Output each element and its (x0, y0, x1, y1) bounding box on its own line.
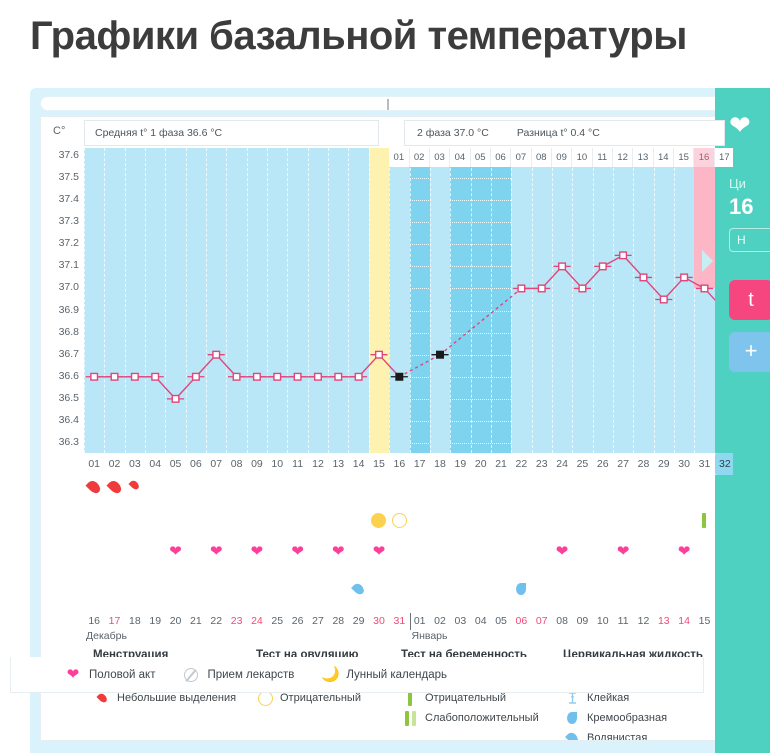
phase2-day-10: 10 (572, 148, 592, 167)
cycle-day-15[interactable]: 15 (369, 453, 389, 475)
calendar-day-Декабрь-31[interactable]: 31 (389, 613, 409, 630)
calendar-day-Январь-14[interactable]: 14 (674, 613, 694, 630)
calendar-day-Январь-06[interactable]: 06 (511, 613, 531, 630)
intercourse-marker-15[interactable]: ❤ (369, 543, 389, 577)
calendar-day-Декабрь-20[interactable]: 20 (165, 613, 185, 630)
cervical-fluid-marker-14[interactable] (348, 577, 368, 611)
menstruation-marker-01[interactable] (84, 475, 104, 509)
circle-filled-yellow-icon (371, 513, 386, 528)
data-point-marker[interactable] (701, 285, 708, 292)
cycle-day-11[interactable]: 11 (287, 453, 307, 475)
drop-red-small-icon (93, 693, 111, 703)
cervical-fluid-marker-row[interactable] (84, 577, 733, 611)
cycle-day-26[interactable]: 26 (593, 453, 613, 475)
pill-icon (181, 668, 201, 682)
cycle-day-05[interactable]: 05 (165, 453, 185, 475)
pregnancy-test-marker-31[interactable] (694, 509, 714, 543)
legend-bottom-bar: ❤Половой актПрием лекарств🌙Лунный календ… (10, 657, 704, 693)
intercourse-marker-11[interactable]: ❤ (287, 543, 307, 577)
calendar-day-Декабрь-18[interactable]: 18 (125, 613, 145, 630)
calendar-day-Январь-15[interactable]: 15 (694, 613, 714, 630)
phase2-day-03: 03 (430, 148, 450, 167)
month-name-Январь: Январь (412, 630, 448, 642)
heart-pink-icon: ❤ (556, 543, 569, 560)
phase2-day-04: 04 (450, 148, 470, 167)
cervical-fluid-marker-22[interactable] (511, 577, 531, 611)
y-tick-37-1: 37.1 (59, 259, 79, 271)
phase2-day-09: 09 (552, 148, 572, 167)
legend-item-label: Водянистая (587, 732, 647, 741)
legend-item-label: Слабоположительный (425, 712, 539, 724)
cycle-day-30[interactable]: 30 (674, 453, 694, 475)
legend-item: Водянистая (563, 728, 703, 741)
calendar-day-Январь-01[interactable]: 01 (410, 613, 430, 630)
bbt-chart-card: C° 37.637.537.437.337.237.137.036.936.83… (30, 88, 770, 753)
series-segment (440, 288, 521, 354)
cycle-day-axis[interactable]: 0102030405060708091011121314151617181920… (84, 453, 733, 475)
data-point-marker[interactable] (559, 263, 566, 270)
y-tick-37-3: 37.3 (59, 215, 79, 227)
phase2-day-08: 08 (532, 148, 552, 167)
phase2-diff: Разница t° 0.4 °C (517, 127, 600, 139)
data-point-marker[interactable] (538, 285, 545, 292)
legend-item-label: Кремообразная (587, 712, 667, 724)
calendar-day-Декабрь-22[interactable]: 22 (206, 613, 226, 630)
menstruation-marker-row[interactable] (84, 475, 733, 509)
phase2-summary: 2 фаза 37.0 °CРазница t° 0.4 °C (404, 120, 725, 146)
ovulation-test-marker-15[interactable] (369, 509, 389, 543)
creamy-icon (563, 712, 581, 724)
test-marker-row[interactable] (84, 509, 733, 543)
heart-pink-icon: ❤ (210, 543, 223, 560)
two-green-bars-faded-icon (401, 711, 419, 726)
heart-pink-icon: ❤ (291, 543, 304, 560)
bottom-legend-item: Прием лекарств (181, 668, 294, 682)
phase2-day-15: 15 (674, 148, 694, 167)
data-point-marker[interactable] (294, 373, 301, 380)
y-tick-37-4: 37.4 (59, 193, 79, 205)
cycle-day-01[interactable]: 01 (84, 453, 104, 475)
drop-red-icon (106, 479, 123, 496)
cycle-day-16[interactable]: 16 (389, 453, 409, 475)
cycle-day-24[interactable]: 24 (552, 453, 572, 475)
add-record-button[interactable]: + (729, 332, 770, 372)
cycle-day-06[interactable]: 06 (186, 453, 206, 475)
calendar-day-Декабрь-21[interactable]: 21 (186, 613, 206, 630)
menstruation-marker-03[interactable] (125, 475, 145, 509)
phase2-day-17: 17 (715, 148, 733, 167)
data-point-marker[interactable] (579, 285, 586, 292)
phase2-day-13: 13 (633, 148, 653, 167)
y-tick-36-7: 36.7 (59, 348, 79, 360)
calendar-day-Январь-05[interactable]: 05 (491, 613, 511, 630)
data-point-marker[interactable] (91, 373, 98, 380)
y-tick-36-8: 36.8 (59, 326, 79, 338)
calendar-date-axis[interactable]: Декабрь16171819202122232425262728293031Я… (84, 613, 733, 647)
heart-pink-icon: ❤ (251, 543, 264, 560)
y-tick-37-2: 37.2 (59, 237, 79, 249)
cycle-day-09[interactable]: 09 (247, 453, 267, 475)
phase2-day-header: 0102030405060708091011121314151617 (389, 148, 733, 167)
y-tick-36-6: 36.6 (59, 370, 79, 382)
phase-summary-bar: Средняя t° 1 фаза 36.6 °C 2 фаза 37.0 °C… (84, 120, 733, 146)
phase2-day-14: 14 (654, 148, 674, 167)
watery-icon (563, 732, 581, 741)
calendar-day-Декабрь-23[interactable]: 23 (226, 613, 246, 630)
drop-red-icon (129, 479, 141, 491)
cycle-label: Ци (729, 176, 746, 191)
bottom-legend-item: 🌙Лунный календарь (320, 667, 447, 682)
data-point-marker[interactable] (152, 373, 159, 380)
cycle-day-27[interactable]: 27 (613, 453, 633, 475)
menstruation-marker-02[interactable] (104, 475, 124, 509)
circle-outline-yellow-icon (392, 513, 407, 528)
bottom-legend-item: ❤Половой акт (63, 667, 155, 682)
one-green-bar-icon (702, 513, 706, 528)
calendar-day-Январь-03[interactable]: 03 (450, 613, 470, 630)
data-point-marker[interactable] (681, 274, 688, 281)
cycle-day-25[interactable]: 25 (572, 453, 592, 475)
heart-pink-icon: ❤ (678, 543, 691, 560)
y-tick-36-9: 36.9 (59, 304, 79, 316)
calendar-day-Декабрь-19[interactable]: 19 (145, 613, 165, 630)
ovulation-test-marker-16[interactable] (389, 509, 409, 543)
chart-sheet: C° 37.637.537.437.337.237.137.036.936.83… (40, 116, 734, 741)
y-tick-36-3: 36.3 (59, 436, 79, 448)
intercourse-marker-24[interactable]: ❤ (552, 543, 572, 577)
cycle-day-17[interactable]: 17 (410, 453, 430, 475)
cycle-day-29[interactable]: 29 (654, 453, 674, 475)
calendar-day-Январь-13[interactable]: 13 (654, 613, 674, 630)
y-axis-unit: C° (53, 125, 65, 137)
phase2-day-05: 05 (471, 148, 491, 167)
cycle-day-20[interactable]: 20 (471, 453, 491, 475)
data-point-marker[interactable] (599, 263, 606, 270)
cycle-day-28[interactable]: 28 (633, 453, 653, 475)
calendar-day-Декабрь-28[interactable]: 28 (328, 613, 348, 630)
bottom-legend-label: Лунный календарь (346, 669, 447, 681)
sticky-icon (563, 691, 581, 705)
data-point-marker[interactable] (233, 373, 240, 380)
data-point-marker[interactable] (315, 373, 322, 380)
heart-pink-icon: ❤ (373, 543, 386, 560)
data-point-marker[interactable] (111, 373, 118, 380)
calendar-day-Декабрь-27[interactable]: 27 (308, 613, 328, 630)
y-tick-36-4: 36.4 (59, 414, 79, 426)
intercourse-marker-row[interactable]: ❤❤❤❤❤❤❤❤❤ (84, 543, 733, 577)
data-point-marker[interactable] (132, 373, 139, 380)
legend-item: Кремообразная (563, 708, 703, 728)
data-point-marker[interactable] (396, 373, 403, 380)
calendar-day-Январь-11[interactable]: 11 (613, 613, 633, 630)
bottom-legend-label: Половой акт (89, 669, 155, 681)
phase2-day-07: 07 (511, 148, 531, 167)
cycle-day-07[interactable]: 07 (206, 453, 226, 475)
calendar-day-Декабрь-24[interactable]: 24 (247, 613, 267, 630)
intercourse-marker-05[interactable]: ❤ (165, 543, 185, 577)
y-tick-37-5: 37.5 (59, 171, 79, 183)
y-tick-37-6: 37.6 (59, 149, 79, 161)
month-name-Декабрь: Декабрь (86, 630, 127, 642)
scrollbar-handle[interactable] (387, 99, 389, 110)
cycle-day-19[interactable]: 19 (450, 453, 470, 475)
cycle-value: 16 (729, 194, 753, 220)
calendar-day-Январь-02[interactable]: 02 (430, 613, 450, 630)
creamy-icon (516, 583, 526, 595)
calendar-day-Январь-07[interactable]: 07 (532, 613, 552, 630)
cycle-day-03[interactable]: 03 (125, 453, 145, 475)
cycle-day-18[interactable]: 18 (430, 453, 450, 475)
note-button[interactable]: Н (729, 228, 770, 252)
phase2-day-16: 16 (694, 148, 714, 167)
cycle-day-08[interactable]: 08 (226, 453, 246, 475)
calendar-day-Январь-08[interactable]: 08 (552, 613, 572, 630)
data-point-marker[interactable] (335, 373, 342, 380)
calendar-day-Январь-09[interactable]: 09 (572, 613, 592, 630)
cycle-day-13[interactable]: 13 (328, 453, 348, 475)
cycle-day-22[interactable]: 22 (511, 453, 531, 475)
temperature-series (84, 148, 733, 453)
intercourse-marker-13[interactable]: ❤ (328, 543, 348, 577)
cycle-day-12[interactable]: 12 (308, 453, 328, 475)
cycle-day-23[interactable]: 23 (532, 453, 552, 475)
cycle-day-10[interactable]: 10 (267, 453, 287, 475)
bottom-legend-label: Прием лекарств (207, 669, 294, 681)
cycle-day-31[interactable]: 31 (694, 453, 714, 475)
intercourse-marker-09[interactable]: ❤ (247, 543, 267, 577)
side-summary-panel: ❤ Ци 16 Н t + (715, 88, 770, 753)
y-axis: C° 37.637.537.437.337.237.137.036.936.83… (41, 117, 84, 457)
calendar-day-Январь-12[interactable]: 12 (633, 613, 653, 630)
intercourse-marker-30[interactable]: ❤ (674, 543, 694, 577)
watery-icon (351, 582, 366, 597)
cycle-day-04[interactable]: 04 (145, 453, 165, 475)
data-point-marker[interactable] (254, 373, 261, 380)
legend-item-label: Отрицательный (280, 692, 361, 704)
data-point-marker[interactable] (376, 351, 383, 358)
panel-collapse-arrow-icon[interactable] (702, 250, 713, 272)
cycle-day-02[interactable]: 02 (104, 453, 124, 475)
data-point-marker[interactable] (355, 373, 362, 380)
y-tick-36-5: 36.5 (59, 392, 79, 404)
cycle-day-32[interactable]: 32 (715, 453, 734, 475)
temperature-add-button[interactable]: t (729, 280, 770, 320)
heart-pink-icon: ❤ (617, 543, 630, 560)
intercourse-marker-27[interactable]: ❤ (613, 543, 633, 577)
y-tick-37-0: 37.0 (59, 281, 79, 293)
page-title: Графики базальной температуры (30, 14, 687, 59)
phase2-day-12: 12 (613, 148, 633, 167)
phase2-day-02: 02 (410, 148, 430, 167)
legend-item-label: Отрицательный (425, 692, 506, 704)
data-point-marker[interactable] (660, 296, 667, 303)
legend-item-label: Клейкая (587, 692, 629, 704)
moon-icon: 🌙 (320, 667, 340, 682)
data-point-marker[interactable] (172, 396, 179, 403)
series-segment (399, 355, 440, 377)
data-point-marker[interactable] (640, 274, 647, 281)
phase2-day-01: 01 (389, 148, 409, 167)
heart-pink-icon: ❤ (169, 543, 182, 560)
phase2-day-06: 06 (491, 148, 511, 167)
data-point-marker[interactable] (213, 351, 220, 358)
calendar-day-Январь-10[interactable]: 10 (593, 613, 613, 630)
data-point-marker[interactable] (274, 373, 281, 380)
legend-item-label: Небольшие выделения (117, 692, 236, 704)
calendar-day-Декабрь-17[interactable]: 17 (104, 613, 124, 630)
heart-pink-icon: ❤ (332, 543, 345, 560)
data-point-marker[interactable] (620, 252, 627, 259)
calendar-day-Декабрь-29[interactable]: 29 (348, 613, 368, 630)
phase1-summary: Средняя t° 1 фаза 36.6 °C (84, 120, 379, 146)
drop-red-icon (86, 479, 103, 496)
calendar-day-Декабрь-16[interactable]: 16 (84, 613, 104, 630)
data-point-marker[interactable] (518, 285, 525, 292)
temperature-plot[interactable]: ОВУЛЯЦИЯ 0102030405060708091011121314151… (84, 148, 733, 453)
calendar-day-Декабрь-25[interactable]: 25 (267, 613, 287, 630)
data-point-marker[interactable] (437, 351, 444, 358)
phase2-temp: 2 фаза 37.0 °C (417, 127, 489, 139)
legend-item: Слабоположительный (401, 708, 539, 728)
cycle-day-14[interactable]: 14 (348, 453, 368, 475)
phase2-day-11: 11 (593, 148, 613, 167)
calendar-day-Декабрь-30[interactable]: 30 (369, 613, 389, 630)
calendar-day-Декабрь-26[interactable]: 26 (287, 613, 307, 630)
data-point-marker[interactable] (193, 373, 200, 380)
intercourse-marker-07[interactable]: ❤ (206, 543, 226, 577)
calendar-day-Январь-04[interactable]: 04 (471, 613, 491, 630)
horizontal-scrollbar[interactable] (40, 96, 734, 111)
cycle-day-21[interactable]: 21 (491, 453, 511, 475)
heart-pink-icon: ❤ (63, 667, 83, 682)
